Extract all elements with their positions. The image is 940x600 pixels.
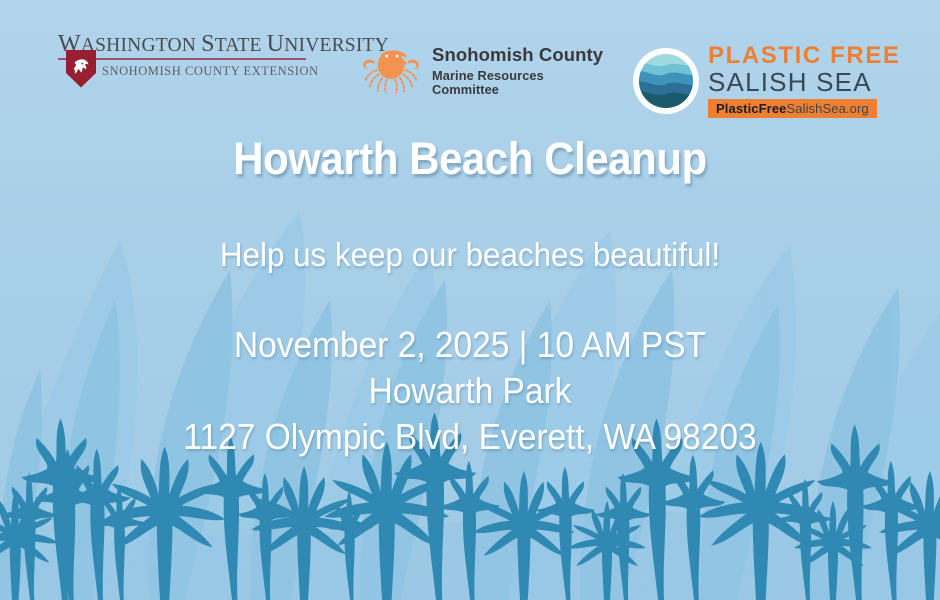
pfss-line2: SALISH SEA	[708, 69, 901, 95]
wsu-wordmark: WASHINGTON STATE UNIVERSITY	[58, 32, 320, 56]
event-datetime: November 2, 2025 | 10 AM PST	[33, 322, 907, 368]
mrc-title: Snohomish County	[432, 45, 603, 66]
mrc-subtitle-line2: Committee	[432, 83, 603, 97]
event-poster: WASHINGTON STATE UNIVERSITY SNOHOMISH CO…	[0, 0, 940, 600]
logo-wsu: WASHINGTON STATE UNIVERSITY SNOHOMISH CO…	[58, 32, 320, 88]
page-title: Howarth Beach Cleanup	[33, 133, 907, 185]
subtitle: Help us keep our beaches beautiful!	[24, 236, 917, 274]
wsu-extension-label: SNOHOMISH COUNTY EXTENSION	[102, 64, 319, 79]
cougar-head-icon	[71, 57, 91, 77]
mrc-subtitle-line1: Marine Resources	[432, 69, 603, 83]
logo-snohomish-mrc: Snohomish County Marine Resources Commit…	[360, 42, 603, 100]
pfss-badge-normal: SalishSea.org	[786, 101, 868, 116]
pfss-website-badge[interactable]: PlasticFreeSalishSea.org	[708, 99, 877, 118]
pfss-badge-bold: PlasticFree	[716, 101, 786, 116]
wsu-cougar-icon	[66, 50, 96, 88]
wave-circle-icon	[632, 47, 700, 115]
salish-crab-icon	[360, 42, 422, 100]
logo-row: WASHINGTON STATE UNIVERSITY SNOHOMISH CO…	[0, 20, 940, 112]
pfss-line1: PLASTIC FREE	[708, 44, 901, 68]
event-address: 1127 Olympic Blvd, Everett, WA 98203	[33, 414, 907, 460]
event-details: November 2, 2025 | 10 AM PST Howarth Par…	[0, 322, 940, 460]
logo-plastic-free-salish-sea: PLASTIC FREE SALISH SEA PlasticFreeSalis…	[632, 44, 901, 118]
event-venue: Howarth Park	[33, 368, 907, 414]
